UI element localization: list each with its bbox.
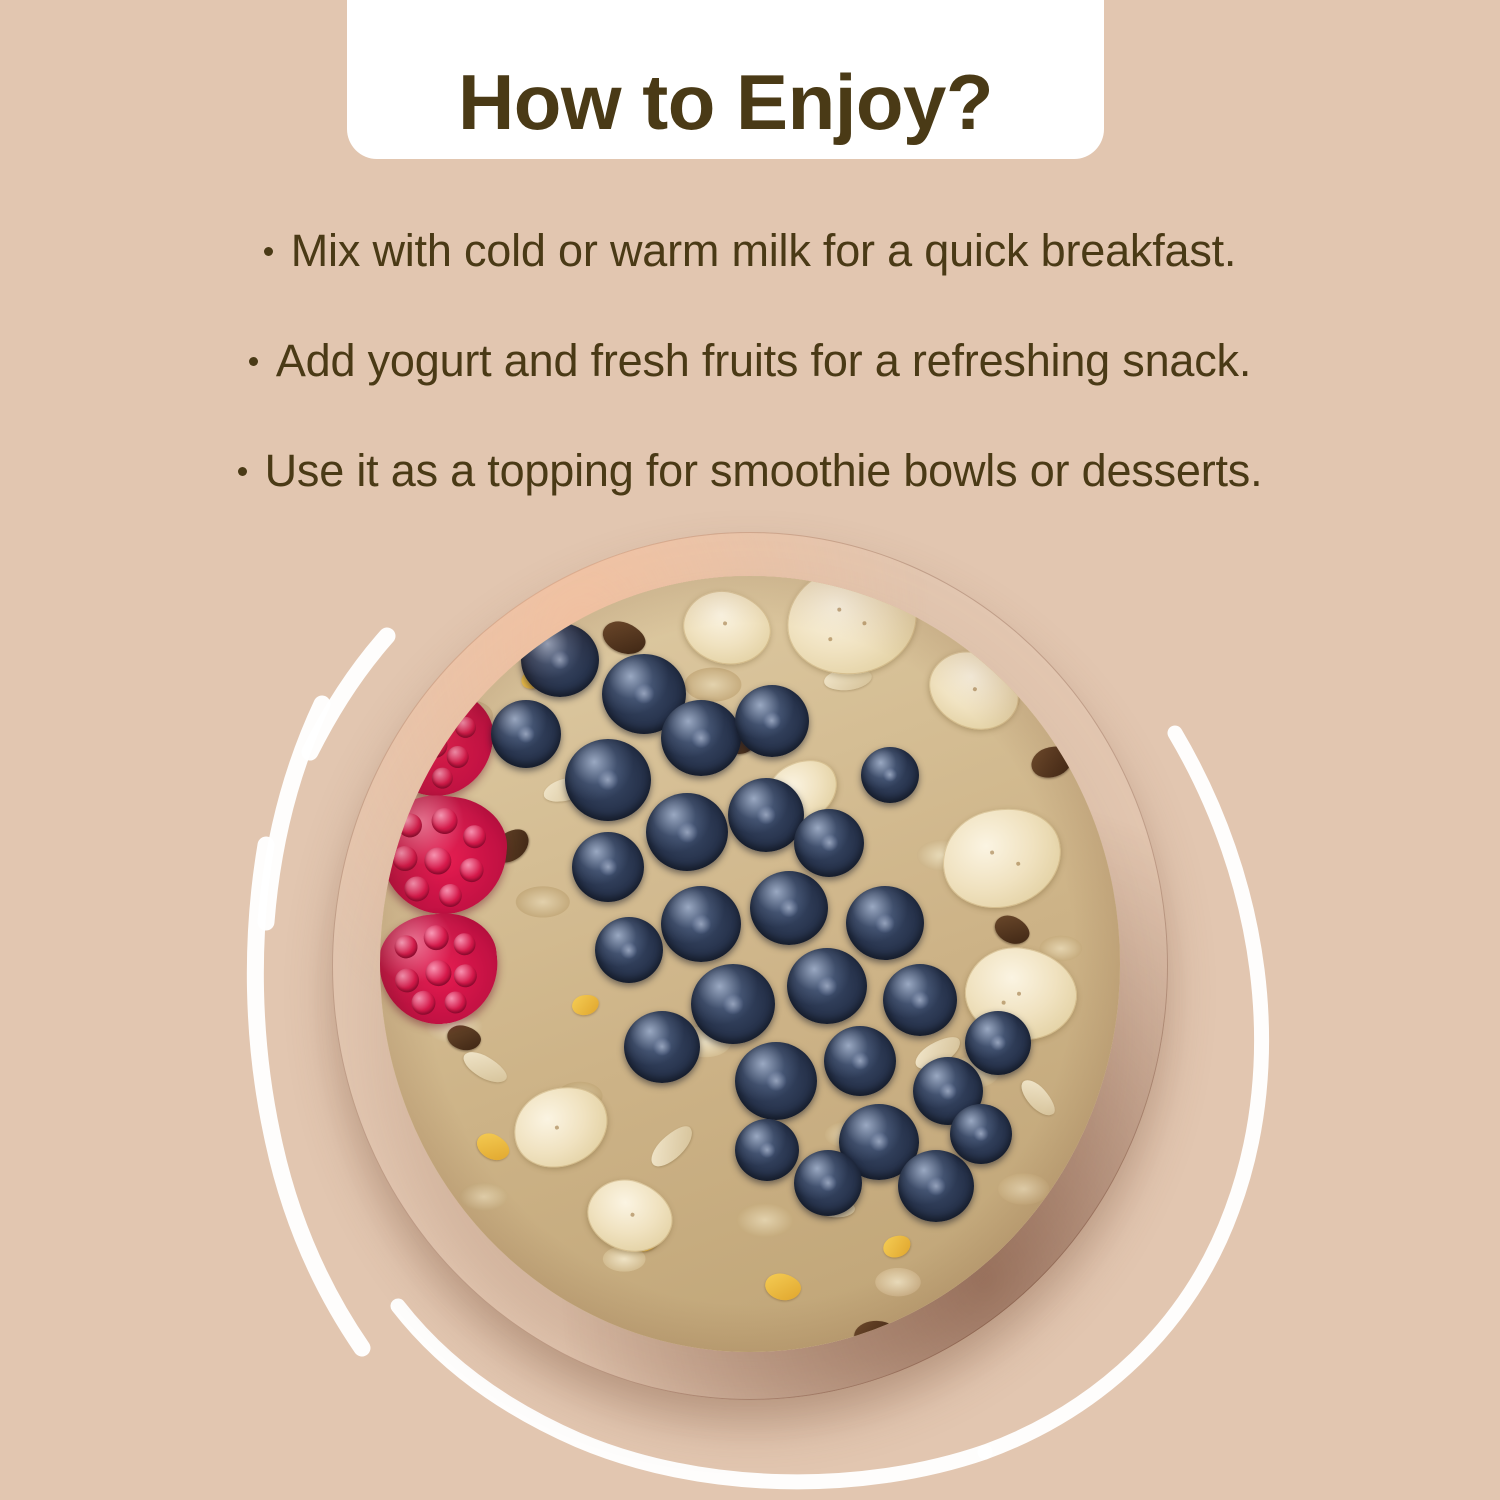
poster-root: How to Enjoy? Mix with cold or warm milk…: [0, 0, 1500, 1500]
blueberry: [950, 1104, 1012, 1164]
blueberry: [595, 917, 663, 983]
list-item: Add yogurt and fresh fruits for a refres…: [249, 306, 1251, 416]
blueberry: [728, 778, 804, 852]
list-item-label: Mix with cold or warm milk for a quick b…: [291, 196, 1236, 306]
clay-bowl: [332, 532, 1168, 1400]
bowl-interior: [380, 576, 1120, 1352]
blueberry: [735, 685, 809, 757]
blueberry: [735, 1042, 817, 1120]
blueberry: [691, 964, 775, 1044]
blueberry: [661, 700, 741, 776]
blueberry: [965, 1011, 1031, 1075]
blueberry: [883, 964, 957, 1036]
title-card: How to Enjoy?: [347, 0, 1104, 159]
blueberry: [572, 832, 644, 902]
blueberry: [491, 700, 561, 768]
tips-list: Mix with cold or warm milk for a quick b…: [0, 196, 1500, 526]
blueberry: [861, 747, 919, 803]
list-item: Use it as a topping for smoothie bowls o…: [238, 416, 1263, 526]
blueberry: [794, 809, 864, 877]
list-item-label: Add yogurt and fresh fruits for a refres…: [276, 306, 1251, 416]
blueberry: [735, 1119, 799, 1181]
blueberry: [750, 871, 828, 945]
blueberry: [824, 1026, 896, 1096]
bullet-dot-icon: [238, 467, 247, 476]
list-item: Mix with cold or warm milk for a quick b…: [264, 196, 1236, 306]
blueberry: [521, 623, 599, 697]
dashed-arc-left-segment-2: [266, 704, 322, 922]
blueberry: [787, 948, 867, 1024]
blueberry: [624, 1011, 700, 1083]
bullet-dot-icon: [249, 357, 258, 366]
list-item-label: Use it as a topping for smoothie bowls o…: [265, 416, 1263, 526]
page-title: How to Enjoy?: [458, 63, 993, 141]
blueberry: [898, 1150, 974, 1222]
blueberry: [565, 739, 651, 821]
bullet-dot-icon: [264, 247, 273, 256]
muesli-bowl-photo: [332, 532, 1168, 1400]
